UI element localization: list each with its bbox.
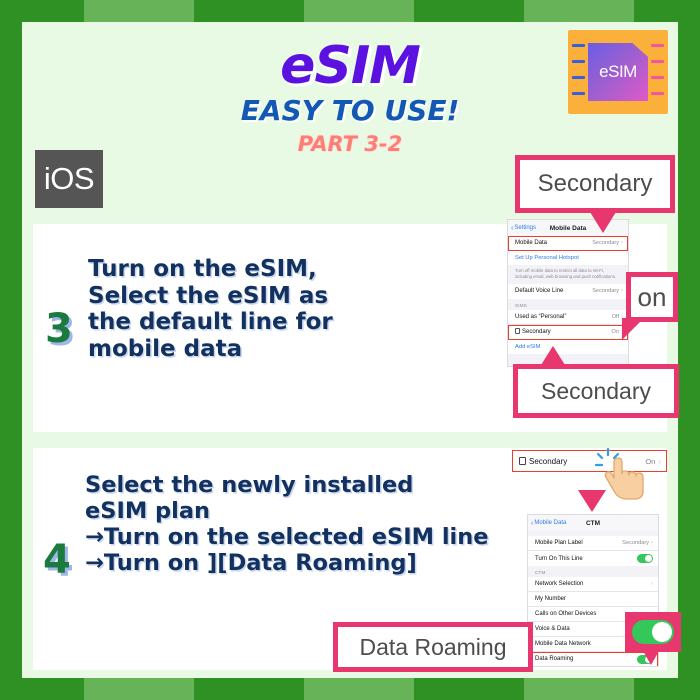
row-label: Mobile Data (515, 240, 547, 246)
row-turn-on-this-line[interactable]: Turn On This Line (528, 551, 658, 566)
row-used-as-personal[interactable]: Used as “Personal” Off › (508, 310, 628, 325)
esim-card-icon: eSIM (568, 30, 668, 114)
row-value: Secondary (592, 240, 619, 246)
border-right (678, 0, 700, 700)
phone-navbar: ‹ Mobile Data CTM (528, 515, 658, 531)
row-value: Secondary (592, 288, 619, 294)
toggle-magnified[interactable] (632, 620, 674, 644)
row-label: Used as “Personal” (515, 314, 566, 320)
row-data-roaming[interactable]: Data Roaming (528, 652, 658, 667)
row-value: Off (612, 314, 619, 320)
esim-chip-label: eSIM (599, 62, 637, 82)
row-label: Secondary (529, 457, 567, 466)
sim-card-icon (515, 328, 520, 334)
plan-section-header: CTM (528, 566, 658, 577)
row-label: Mobile Plan Label (535, 540, 583, 546)
link-add-esim[interactable]: Add eSIM (508, 340, 628, 354)
row-label: Mobile Data Network (535, 641, 591, 647)
row-secondary[interactable]: Secondary On › (508, 325, 628, 340)
default-voice-line-group: Default Voice Line Secondary › (508, 284, 628, 299)
infographic-page: eSIM EASY TO USE! PART 3-2 iOS eSIM 3 Tu… (0, 0, 700, 700)
border-bottom (0, 678, 700, 700)
row-default-voice-line[interactable]: Default Voice Line Secondary › (508, 284, 628, 299)
mobile-data-group: Mobile Data Secondary › Set Up Personal … (508, 236, 628, 265)
row-label-wrap: Secondary (515, 328, 551, 335)
step-3-number: 3 (45, 309, 73, 349)
chevron-right-icon: › (651, 581, 653, 587)
esim-chip-shape: eSIM (588, 43, 648, 101)
callout-label: Secondary (520, 160, 670, 208)
callout-label: Secondary (518, 369, 674, 413)
sims-section-header: SIMs (508, 299, 628, 310)
link-set-up-personal-hotspot[interactable]: Set Up Personal Hotspot (508, 251, 628, 265)
row-label: Default Voice Line (515, 288, 563, 294)
row-value: Secondary (622, 540, 649, 546)
phone-nav-title: CTM (528, 520, 658, 527)
chevron-right-icon: › (658, 457, 661, 466)
callout-pointer (541, 346, 565, 365)
callout-label: on (631, 277, 673, 317)
callout-data-roaming: Data Roaming (333, 622, 533, 672)
platform-badge: iOS (35, 150, 103, 208)
callout-label: Data Roaming (338, 627, 528, 667)
row-label-wrap: Secondary (519, 457, 567, 466)
step-4-text: Select the newly installed eSIM plan →Tu… (85, 472, 489, 576)
plan-group-1: Mobile Plan Label Secondary › Turn On Th… (528, 536, 658, 566)
sims-group: Used as “Personal” Off › Secondary On › … (508, 310, 628, 354)
row-label: Secondary (522, 329, 551, 335)
row-label: Network Selection (535, 581, 583, 587)
toggle-turn-on-this-line[interactable] (637, 554, 653, 563)
callout-secondary-bottom: Secondary (513, 364, 679, 418)
row-label: Turn On This Line (535, 556, 583, 562)
step-4-number: 4 (43, 540, 71, 580)
sim-card-icon (519, 457, 526, 465)
row-mobile-plan-label[interactable]: Mobile Plan Label Secondary › (528, 536, 658, 551)
step-3-text: Turn on the eSIM, Select the eSIM as the… (88, 256, 333, 363)
mobile-data-note: Turn off mobile data to restrict all dat… (508, 265, 628, 284)
callout-pointer (643, 651, 659, 665)
border-top (0, 0, 700, 22)
callout-zoomed-toggle (625, 612, 681, 652)
row-label: Calls on Other Devices (535, 611, 596, 617)
chevron-right-icon: › (621, 288, 623, 294)
chevron-right-icon: › (621, 240, 623, 246)
phone-screenshot-mobile-data: ‹ Settings Mobile Data Mobile Data Secon… (507, 219, 629, 367)
callout-pointer (622, 318, 644, 340)
flow-arrow-down-icon (578, 490, 606, 512)
callout-on: on (626, 272, 678, 322)
callout-secondary-top: Secondary (515, 155, 675, 213)
chevron-right-icon: › (651, 540, 653, 546)
callout-pointer (590, 212, 616, 233)
row-network-selection[interactable]: Network Selection › (528, 577, 658, 592)
row-label: My Number (535, 596, 566, 602)
row-my-number[interactable]: My Number (528, 592, 658, 607)
row-label: Voice & Data (535, 626, 570, 632)
row-value: On (612, 329, 619, 335)
border-left (0, 0, 22, 700)
row-mobile-data[interactable]: Mobile Data Secondary › (508, 236, 628, 251)
row-label: Data Roaming (535, 656, 573, 662)
